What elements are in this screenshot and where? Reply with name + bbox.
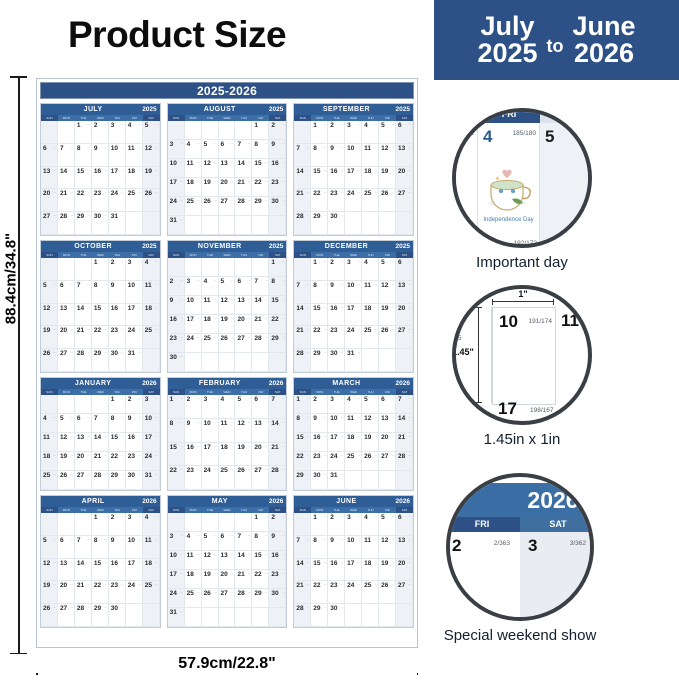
- day-cell[interactable]: 15—: [311, 167, 328, 190]
- day-cell[interactable]: 23—: [185, 466, 202, 490]
- day-cell[interactable]: 10—: [143, 414, 160, 433]
- day-cell[interactable]: 22—: [311, 326, 328, 349]
- day-cell[interactable]: 12—: [58, 433, 75, 452]
- day-cell[interactable]: 17—: [109, 167, 126, 190]
- day-cell[interactable]: [185, 353, 202, 372]
- day-cell[interactable]: 8—: [252, 140, 269, 159]
- day-cell[interactable]: 15—: [75, 167, 92, 190]
- day-cell[interactable]: 22—: [75, 189, 92, 212]
- day-cell[interactable]: 18—: [219, 443, 236, 467]
- day-cell[interactable]: [168, 121, 185, 140]
- day-cell[interactable]: 10—: [328, 414, 345, 433]
- day-cell[interactable]: 23—: [126, 452, 143, 471]
- day-cell[interactable]: 22—: [252, 570, 269, 589]
- day-cell[interactable]: 16—: [269, 551, 286, 570]
- day-cell[interactable]: 13—: [75, 433, 92, 452]
- day-cell[interactable]: [185, 121, 202, 140]
- day-cell[interactable]: 17—: [202, 443, 219, 467]
- day-cell[interactable]: 31—: [109, 212, 126, 235]
- day-cell[interactable]: 10—: [168, 551, 185, 570]
- day-cell[interactable]: 17—: [126, 559, 143, 582]
- day-cell[interactable]: 9—: [328, 144, 345, 167]
- day-cell[interactable]: 18—: [362, 559, 379, 582]
- day-cell[interactable]: 8—: [75, 144, 92, 167]
- day-cell[interactable]: 18—: [362, 167, 379, 190]
- day-cell[interactable]: 29—: [252, 197, 269, 216]
- day-cell[interactable]: 2—: [328, 258, 345, 281]
- day-cell[interactable]: 19—: [202, 570, 219, 589]
- day-cell[interactable]: 26—: [219, 334, 236, 353]
- day-cell[interactable]: 30—: [109, 349, 126, 372]
- day-cell[interactable]: 29—: [311, 212, 328, 235]
- day-cell[interactable]: 13—: [235, 296, 252, 315]
- day-cell[interactable]: 9—: [311, 414, 328, 433]
- day-cell[interactable]: 26—: [202, 589, 219, 608]
- day-cell[interactable]: 12—: [202, 159, 219, 178]
- day-cell[interactable]: [379, 212, 396, 235]
- day-cell[interactable]: 10—: [345, 144, 362, 167]
- day-cell[interactable]: 12—: [202, 551, 219, 570]
- day-cell[interactable]: 11—: [202, 296, 219, 315]
- day-cell[interactable]: [269, 353, 286, 372]
- day-cell[interactable]: [219, 121, 236, 140]
- day-cell[interactable]: 15—: [109, 433, 126, 452]
- day-cell[interactable]: 24—: [109, 189, 126, 212]
- day-cell[interactable]: 29—: [252, 589, 269, 608]
- day-cell[interactable]: 29—: [75, 212, 92, 235]
- day-cell[interactable]: 20—: [219, 178, 236, 197]
- day-cell[interactable]: [235, 513, 252, 532]
- day-cell[interactable]: 5—: [379, 121, 396, 144]
- day-cell[interactable]: 24—: [345, 581, 362, 604]
- day-cell[interactable]: 1—: [311, 513, 328, 536]
- day-cell[interactable]: 13—: [396, 536, 413, 559]
- day-cell[interactable]: [362, 604, 379, 627]
- day-cell[interactable]: 26—: [379, 326, 396, 349]
- day-cell[interactable]: [345, 471, 362, 490]
- day-cell[interactable]: 23—: [328, 581, 345, 604]
- day-cell[interactable]: 21—: [294, 326, 311, 349]
- day-cell[interactable]: 15—: [92, 304, 109, 327]
- day-cell[interactable]: 7—: [92, 414, 109, 433]
- day-cell[interactable]: 11—: [143, 281, 160, 304]
- day-cell[interactable]: 12—: [41, 559, 58, 582]
- day-cell[interactable]: 28—: [235, 589, 252, 608]
- day-cell[interactable]: 2—: [109, 513, 126, 536]
- day-cell[interactable]: 31—: [168, 216, 185, 235]
- day-cell[interactable]: [202, 513, 219, 532]
- day-cell[interactable]: 27—: [379, 452, 396, 471]
- day-cell[interactable]: 27—: [396, 326, 413, 349]
- day-cell[interactable]: 1—: [252, 121, 269, 140]
- day-cell[interactable]: 4—: [219, 395, 236, 419]
- day-cell[interactable]: [252, 353, 269, 372]
- day-cell[interactable]: 12—: [379, 281, 396, 304]
- day-cell[interactable]: 18—: [41, 452, 58, 471]
- day-cell[interactable]: 4—: [126, 121, 143, 144]
- day-cell[interactable]: 5—: [41, 281, 58, 304]
- day-cell[interactable]: 30—: [269, 197, 286, 216]
- day-cell[interactable]: 10—: [126, 281, 143, 304]
- day-cell[interactable]: [58, 513, 75, 536]
- day-cell[interactable]: 27—: [41, 212, 58, 235]
- day-cell[interactable]: 10—: [109, 144, 126, 167]
- day-cell[interactable]: 28—: [75, 604, 92, 627]
- day-cell[interactable]: 18—: [185, 178, 202, 197]
- day-cell[interactable]: 29—: [294, 471, 311, 490]
- day-cell[interactable]: 25—: [219, 466, 236, 490]
- day-cell[interactable]: [126, 212, 143, 235]
- day-cell[interactable]: 6—: [58, 281, 75, 304]
- day-cell[interactable]: 22—: [252, 178, 269, 197]
- day-cell[interactable]: 16—: [311, 433, 328, 452]
- day-cell[interactable]: 1—: [92, 258, 109, 281]
- day-cell[interactable]: [58, 121, 75, 144]
- day-cell[interactable]: 23—: [328, 326, 345, 349]
- day-cell[interactable]: 1—: [168, 395, 185, 419]
- day-cell[interactable]: 20—: [75, 452, 92, 471]
- day-cell[interactable]: 13—: [58, 559, 75, 582]
- day-cell[interactable]: 7—: [252, 277, 269, 296]
- day-cell[interactable]: 11—: [143, 536, 160, 559]
- day-cell[interactable]: 27—: [219, 589, 236, 608]
- day-cell[interactable]: 8—: [311, 281, 328, 304]
- day-cell[interactable]: [143, 604, 160, 627]
- day-cell[interactable]: 13—: [41, 167, 58, 190]
- day-cell[interactable]: [294, 258, 311, 281]
- day-cell[interactable]: [396, 212, 413, 235]
- day-cell[interactable]: 20—: [396, 304, 413, 327]
- day-cell[interactable]: 24—: [126, 326, 143, 349]
- day-cell[interactable]: 6—: [219, 532, 236, 551]
- day-cell[interactable]: 4—: [362, 258, 379, 281]
- day-cell[interactable]: 4—: [143, 258, 160, 281]
- day-cell[interactable]: 16—: [126, 433, 143, 452]
- day-cell[interactable]: 9—: [92, 144, 109, 167]
- day-cell[interactable]: 12—: [362, 414, 379, 433]
- day-cell[interactable]: 9—: [109, 281, 126, 304]
- day-cell[interactable]: 20—: [235, 315, 252, 334]
- day-cell[interactable]: 7—: [294, 281, 311, 304]
- day-cell[interactable]: 30—: [269, 589, 286, 608]
- day-cell[interactable]: 19—: [41, 326, 58, 349]
- day-cell[interactable]: 20—: [58, 326, 75, 349]
- day-cell[interactable]: [202, 258, 219, 277]
- day-cell[interactable]: 25—: [185, 589, 202, 608]
- day-cell[interactable]: 20—: [396, 559, 413, 582]
- day-cell[interactable]: [345, 604, 362, 627]
- day-cell[interactable]: 23—: [109, 581, 126, 604]
- day-cell[interactable]: 3—: [328, 395, 345, 414]
- day-cell[interactable]: 8—: [252, 532, 269, 551]
- day-cell[interactable]: 14—: [58, 167, 75, 190]
- day-cell[interactable]: 3—: [202, 395, 219, 419]
- day-cell[interactable]: 25—: [126, 189, 143, 212]
- day-cell[interactable]: 8—: [311, 144, 328, 167]
- day-cell[interactable]: 5—: [379, 258, 396, 281]
- day-cell[interactable]: [41, 121, 58, 144]
- day-cell[interactable]: 17—: [168, 178, 185, 197]
- day-cell[interactable]: 17—: [345, 167, 362, 190]
- day-cell[interactable]: 10—: [345, 536, 362, 559]
- day-cell[interactable]: [202, 121, 219, 140]
- day-cell[interactable]: 18—: [345, 433, 362, 452]
- day-cell[interactable]: 22—: [92, 581, 109, 604]
- day-cell[interactable]: 17—: [185, 315, 202, 334]
- day-cell[interactable]: 23—: [269, 570, 286, 589]
- day-cell[interactable]: 8—: [92, 536, 109, 559]
- day-cell[interactable]: 3—: [126, 258, 143, 281]
- day-cell[interactable]: 18—: [202, 315, 219, 334]
- day-cell[interactable]: 10—: [345, 281, 362, 304]
- day-cell[interactable]: 1—: [109, 395, 126, 414]
- day-cell[interactable]: 16—: [328, 304, 345, 327]
- day-cell[interactable]: [202, 353, 219, 372]
- day-cell[interactable]: 17—: [168, 570, 185, 589]
- day-cell[interactable]: 6—: [396, 258, 413, 281]
- day-cell[interactable]: 26—: [379, 581, 396, 604]
- day-cell[interactable]: 22—: [109, 452, 126, 471]
- day-cell[interactable]: [379, 604, 396, 627]
- day-cell[interactable]: [58, 258, 75, 281]
- day-cell[interactable]: [126, 604, 143, 627]
- day-cell[interactable]: [235, 121, 252, 140]
- day-cell[interactable]: [362, 471, 379, 490]
- day-cell[interactable]: 30—: [328, 212, 345, 235]
- day-cell[interactable]: [185, 258, 202, 277]
- day-cell[interactable]: 2—: [168, 277, 185, 296]
- day-cell[interactable]: 5—: [202, 140, 219, 159]
- day-cell[interactable]: 19—: [235, 443, 252, 467]
- day-cell[interactable]: 11—: [185, 159, 202, 178]
- day-cell[interactable]: 1—: [92, 513, 109, 536]
- day-cell[interactable]: 24—: [185, 334, 202, 353]
- day-cell[interactable]: 28—: [235, 197, 252, 216]
- day-cell[interactable]: 26—: [58, 471, 75, 490]
- day-cell[interactable]: 14—: [294, 304, 311, 327]
- day-cell[interactable]: 26—: [41, 604, 58, 627]
- day-cell[interactable]: [235, 608, 252, 627]
- day-cell[interactable]: 20—: [58, 581, 75, 604]
- day-cell[interactable]: 8—: [168, 419, 185, 443]
- day-cell[interactable]: 26—: [379, 189, 396, 212]
- day-cell[interactable]: [185, 513, 202, 532]
- day-cell[interactable]: 18—: [126, 167, 143, 190]
- day-cell[interactable]: 5—: [202, 532, 219, 551]
- day-cell[interactable]: 16—: [328, 559, 345, 582]
- day-cell[interactable]: 14—: [235, 551, 252, 570]
- day-cell[interactable]: 9—: [185, 419, 202, 443]
- day-cell[interactable]: 4—: [345, 395, 362, 414]
- day-cell[interactable]: 20—: [379, 433, 396, 452]
- day-cell[interactable]: 26—: [235, 466, 252, 490]
- day-cell[interactable]: [219, 258, 236, 277]
- day-cell[interactable]: [235, 258, 252, 277]
- day-cell[interactable]: 30—: [109, 604, 126, 627]
- day-cell[interactable]: 29—: [269, 334, 286, 353]
- day-cell[interactable]: 12—: [379, 144, 396, 167]
- day-cell[interactable]: 28—: [75, 349, 92, 372]
- day-cell[interactable]: 17—: [345, 304, 362, 327]
- day-cell[interactable]: 31—: [143, 471, 160, 490]
- day-cell[interactable]: 13—: [396, 281, 413, 304]
- day-cell[interactable]: 19—: [379, 304, 396, 327]
- day-cell[interactable]: 15—: [252, 159, 269, 178]
- day-cell[interactable]: 31—: [126, 349, 143, 372]
- day-cell[interactable]: 15—: [92, 559, 109, 582]
- day-cell[interactable]: 17—: [345, 559, 362, 582]
- day-cell[interactable]: 27—: [396, 581, 413, 604]
- day-cell[interactable]: 18—: [143, 304, 160, 327]
- day-cell[interactable]: 6—: [58, 536, 75, 559]
- day-cell[interactable]: 28—: [294, 604, 311, 627]
- day-cell[interactable]: 28—: [396, 452, 413, 471]
- day-cell[interactable]: 1—: [269, 258, 286, 277]
- day-cell[interactable]: [75, 395, 92, 414]
- day-cell[interactable]: 27—: [75, 471, 92, 490]
- day-cell[interactable]: 1—: [311, 258, 328, 281]
- day-cell[interactable]: [362, 212, 379, 235]
- day-cell[interactable]: 8—: [311, 536, 328, 559]
- day-cell[interactable]: 24—: [168, 589, 185, 608]
- day-cell[interactable]: 4—: [41, 414, 58, 433]
- day-cell[interactable]: 6—: [396, 121, 413, 144]
- day-cell[interactable]: [168, 258, 185, 277]
- day-cell[interactable]: 15—: [168, 443, 185, 467]
- day-cell[interactable]: 13—: [396, 144, 413, 167]
- day-cell[interactable]: 5—: [362, 395, 379, 414]
- day-cell[interactable]: 9—: [109, 536, 126, 559]
- day-cell[interactable]: [185, 216, 202, 235]
- day-cell[interactable]: 26—: [41, 349, 58, 372]
- day-cell[interactable]: 19—: [379, 167, 396, 190]
- day-cell[interactable]: 29—: [92, 604, 109, 627]
- day-cell[interactable]: [75, 258, 92, 281]
- day-cell[interactable]: 27—: [58, 349, 75, 372]
- day-cell[interactable]: [219, 353, 236, 372]
- day-cell[interactable]: 28—: [294, 212, 311, 235]
- day-cell[interactable]: 9—: [269, 532, 286, 551]
- day-cell[interactable]: 4—: [185, 532, 202, 551]
- day-cell[interactable]: 30—: [328, 349, 345, 372]
- day-cell[interactable]: 12—: [143, 144, 160, 167]
- day-cell[interactable]: 27—: [396, 189, 413, 212]
- day-cell[interactable]: 16—: [185, 443, 202, 467]
- day-cell[interactable]: 2—: [185, 395, 202, 419]
- day-cell[interactable]: 19—: [41, 581, 58, 604]
- day-cell[interactable]: 25—: [362, 189, 379, 212]
- day-cell[interactable]: 6—: [219, 140, 236, 159]
- day-cell[interactable]: 5—: [219, 277, 236, 296]
- day-cell[interactable]: 11—: [185, 551, 202, 570]
- day-cell[interactable]: 25—: [185, 197, 202, 216]
- day-cell[interactable]: 21—: [235, 570, 252, 589]
- day-cell[interactable]: 12—: [219, 296, 236, 315]
- day-cell[interactable]: 11—: [362, 281, 379, 304]
- day-cell[interactable]: 5—: [143, 121, 160, 144]
- day-cell[interactable]: [379, 471, 396, 490]
- day-cell[interactable]: 13—: [252, 419, 269, 443]
- day-cell[interactable]: 9—: [126, 414, 143, 433]
- day-cell[interactable]: 20—: [219, 570, 236, 589]
- day-cell[interactable]: 10—: [126, 536, 143, 559]
- day-cell[interactable]: 13—: [219, 551, 236, 570]
- day-cell[interactable]: [219, 216, 236, 235]
- day-cell[interactable]: 27—: [219, 197, 236, 216]
- day-cell[interactable]: 3—: [109, 121, 126, 144]
- day-cell[interactable]: 7—: [235, 532, 252, 551]
- day-cell[interactable]: 4—: [362, 121, 379, 144]
- day-cell[interactable]: 23—: [311, 452, 328, 471]
- day-cell[interactable]: 24—: [345, 189, 362, 212]
- day-cell[interactable]: 20—: [396, 167, 413, 190]
- day-cell[interactable]: 21—: [252, 315, 269, 334]
- day-cell[interactable]: [58, 395, 75, 414]
- day-cell[interactable]: 3—: [345, 121, 362, 144]
- day-cell[interactable]: 21—: [75, 326, 92, 349]
- day-cell[interactable]: 16—: [168, 315, 185, 334]
- day-cell[interactable]: 24—: [126, 581, 143, 604]
- day-cell[interactable]: [235, 216, 252, 235]
- day-cell[interactable]: 15—: [252, 551, 269, 570]
- day-cell[interactable]: 13—: [219, 159, 236, 178]
- day-cell[interactable]: [202, 608, 219, 627]
- day-cell[interactable]: 9—: [269, 140, 286, 159]
- day-cell[interactable]: 7—: [396, 395, 413, 414]
- day-cell[interactable]: 1—: [294, 395, 311, 414]
- day-cell[interactable]: 21—: [294, 581, 311, 604]
- day-cell[interactable]: 22—: [269, 315, 286, 334]
- day-cell[interactable]: 19—: [202, 178, 219, 197]
- day-cell[interactable]: 27—: [58, 604, 75, 627]
- day-cell[interactable]: 3—: [126, 513, 143, 536]
- day-cell[interactable]: 29—: [311, 604, 328, 627]
- day-cell[interactable]: 14—: [235, 159, 252, 178]
- day-cell[interactable]: [252, 258, 269, 277]
- day-cell[interactable]: 25—: [41, 471, 58, 490]
- day-cell[interactable]: 11—: [362, 536, 379, 559]
- day-cell[interactable]: [41, 513, 58, 536]
- day-cell[interactable]: 29—: [92, 349, 109, 372]
- day-cell[interactable]: 2—: [109, 258, 126, 281]
- day-cell[interactable]: 30—: [92, 212, 109, 235]
- day-cell[interactable]: 8—: [269, 277, 286, 296]
- day-cell[interactable]: 21—: [396, 433, 413, 452]
- day-cell[interactable]: 15—: [269, 296, 286, 315]
- day-cell[interactable]: 14—: [294, 167, 311, 190]
- day-cell[interactable]: 25—: [362, 326, 379, 349]
- day-cell[interactable]: [219, 513, 236, 532]
- day-cell[interactable]: 13—: [379, 414, 396, 433]
- day-cell[interactable]: 11—: [345, 414, 362, 433]
- day-cell[interactable]: 17—: [328, 433, 345, 452]
- day-cell[interactable]: 10—: [202, 419, 219, 443]
- day-cell[interactable]: 24—: [328, 452, 345, 471]
- day-cell[interactable]: 8—: [294, 414, 311, 433]
- day-cell[interactable]: 3—: [345, 258, 362, 281]
- day-cell[interactable]: 4—: [185, 140, 202, 159]
- day-cell[interactable]: 14—: [75, 559, 92, 582]
- day-cell[interactable]: 8—: [109, 414, 126, 433]
- day-cell[interactable]: 7—: [75, 281, 92, 304]
- day-cell[interactable]: 21—: [294, 189, 311, 212]
- day-cell[interactable]: 22—: [311, 581, 328, 604]
- day-cell[interactable]: 17—: [143, 433, 160, 452]
- day-cell[interactable]: 2—: [269, 121, 286, 140]
- day-cell[interactable]: [396, 471, 413, 490]
- day-cell[interactable]: 19—: [143, 167, 160, 190]
- day-cell[interactable]: 27—: [235, 334, 252, 353]
